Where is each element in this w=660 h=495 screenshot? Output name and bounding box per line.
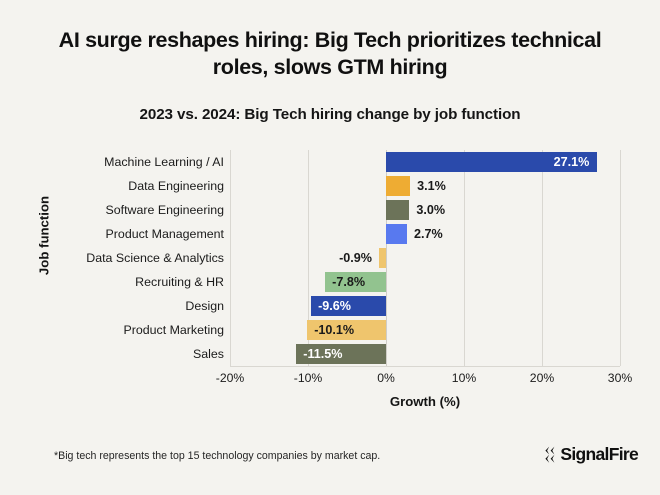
bar-value-label: -11.5% bbox=[303, 344, 342, 364]
x-axis-tick-label: 10% bbox=[434, 371, 494, 385]
bar-value-label: -9.6% bbox=[318, 296, 351, 316]
bar-value-label: 3.1% bbox=[417, 176, 446, 196]
x-axis-title: Growth (%) bbox=[230, 394, 620, 409]
chart-row: Product Management2.7% bbox=[230, 222, 620, 246]
category-label: Software Engineering bbox=[14, 198, 224, 222]
plot-area: Machine Learning / AI27.1%Data Engineeri… bbox=[230, 150, 620, 366]
x-axis-tick-label: 30% bbox=[590, 371, 650, 385]
x-axis-tick-label: -20% bbox=[200, 371, 260, 385]
chart-row: Sales-11.5% bbox=[230, 342, 620, 366]
category-label: Design bbox=[14, 294, 224, 318]
bar[interactable] bbox=[386, 176, 410, 196]
category-label: Product Marketing bbox=[14, 318, 224, 342]
page-title: AI surge reshapes hiring: Big Tech prior… bbox=[52, 27, 608, 81]
x-axis-tick-label: 20% bbox=[512, 371, 572, 385]
chart-row: Recruiting & HR-7.8% bbox=[230, 270, 620, 294]
bar-value-label: 3.0% bbox=[416, 200, 445, 220]
bar-value-label: 2.7% bbox=[414, 224, 443, 244]
bar-value-label: -7.8% bbox=[332, 272, 365, 292]
chart-row: Software Engineering3.0% bbox=[230, 198, 620, 222]
chart-row: Machine Learning / AI27.1% bbox=[230, 150, 620, 174]
category-label: Recruiting & HR bbox=[14, 270, 224, 294]
chart-subtitle: 2023 vs. 2024: Big Tech hiring change by… bbox=[52, 106, 608, 123]
category-label: Sales bbox=[14, 342, 224, 366]
signalfire-logo: SignalFire bbox=[545, 446, 638, 464]
brand-name: SignalFire bbox=[560, 446, 638, 464]
chart-row: Design-9.6% bbox=[230, 294, 620, 318]
category-label: Machine Learning / AI bbox=[14, 150, 224, 174]
chart-row: Data Engineering3.1% bbox=[230, 174, 620, 198]
bar[interactable] bbox=[379, 248, 386, 268]
category-label: Data Science & Analytics bbox=[14, 246, 224, 270]
category-label: Data Engineering bbox=[14, 174, 224, 198]
bar-value-label: -0.9% bbox=[317, 248, 372, 268]
bar-value-label: 27.1% bbox=[386, 152, 589, 172]
x-axis-line bbox=[230, 366, 620, 367]
x-axis-tick-label: 0% bbox=[356, 371, 416, 385]
chart-page: AI surge reshapes hiring: Big Tech prior… bbox=[0, 0, 660, 495]
category-label: Product Management bbox=[14, 222, 224, 246]
chart-row: Data Science & Analytics-0.9% bbox=[230, 246, 620, 270]
bar[interactable] bbox=[386, 200, 409, 220]
chart-row: Product Marketing-10.1% bbox=[230, 318, 620, 342]
bar[interactable] bbox=[386, 224, 407, 244]
footnote: *Big tech represents the top 15 technolo… bbox=[54, 450, 380, 462]
gridline bbox=[620, 150, 621, 366]
signalfire-chevrons-icon bbox=[545, 446, 559, 463]
x-axis-tick-label: -10% bbox=[278, 371, 338, 385]
bar-value-label: -10.1% bbox=[314, 320, 354, 340]
